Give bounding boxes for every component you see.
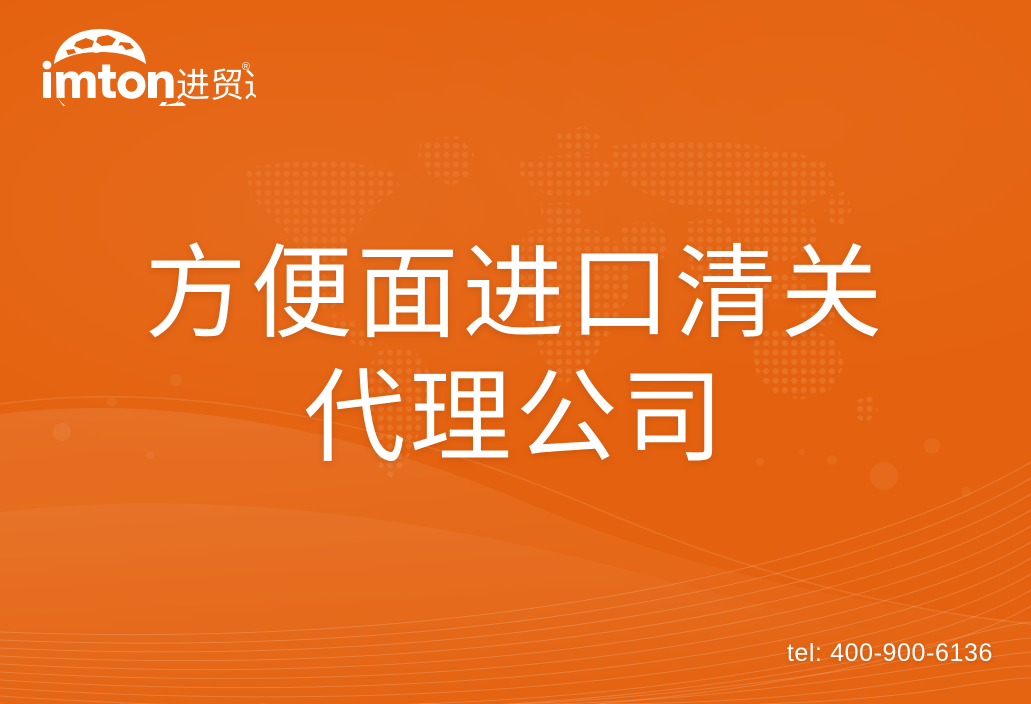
brand-logo[interactable]: 进贸通 ® (36, 26, 256, 106)
promo-banner: 进贸通 ® 方便面进口清关 代理公司 tel: 400-900-6136 (0, 0, 1031, 704)
registered-trademark-icon: ® (242, 61, 250, 73)
contact-phone[interactable]: tel: 400-900-6136 (787, 638, 993, 668)
logo-wordmark (43, 61, 174, 99)
globe-dome-icon (54, 29, 146, 64)
plane-icon (144, 102, 186, 106)
